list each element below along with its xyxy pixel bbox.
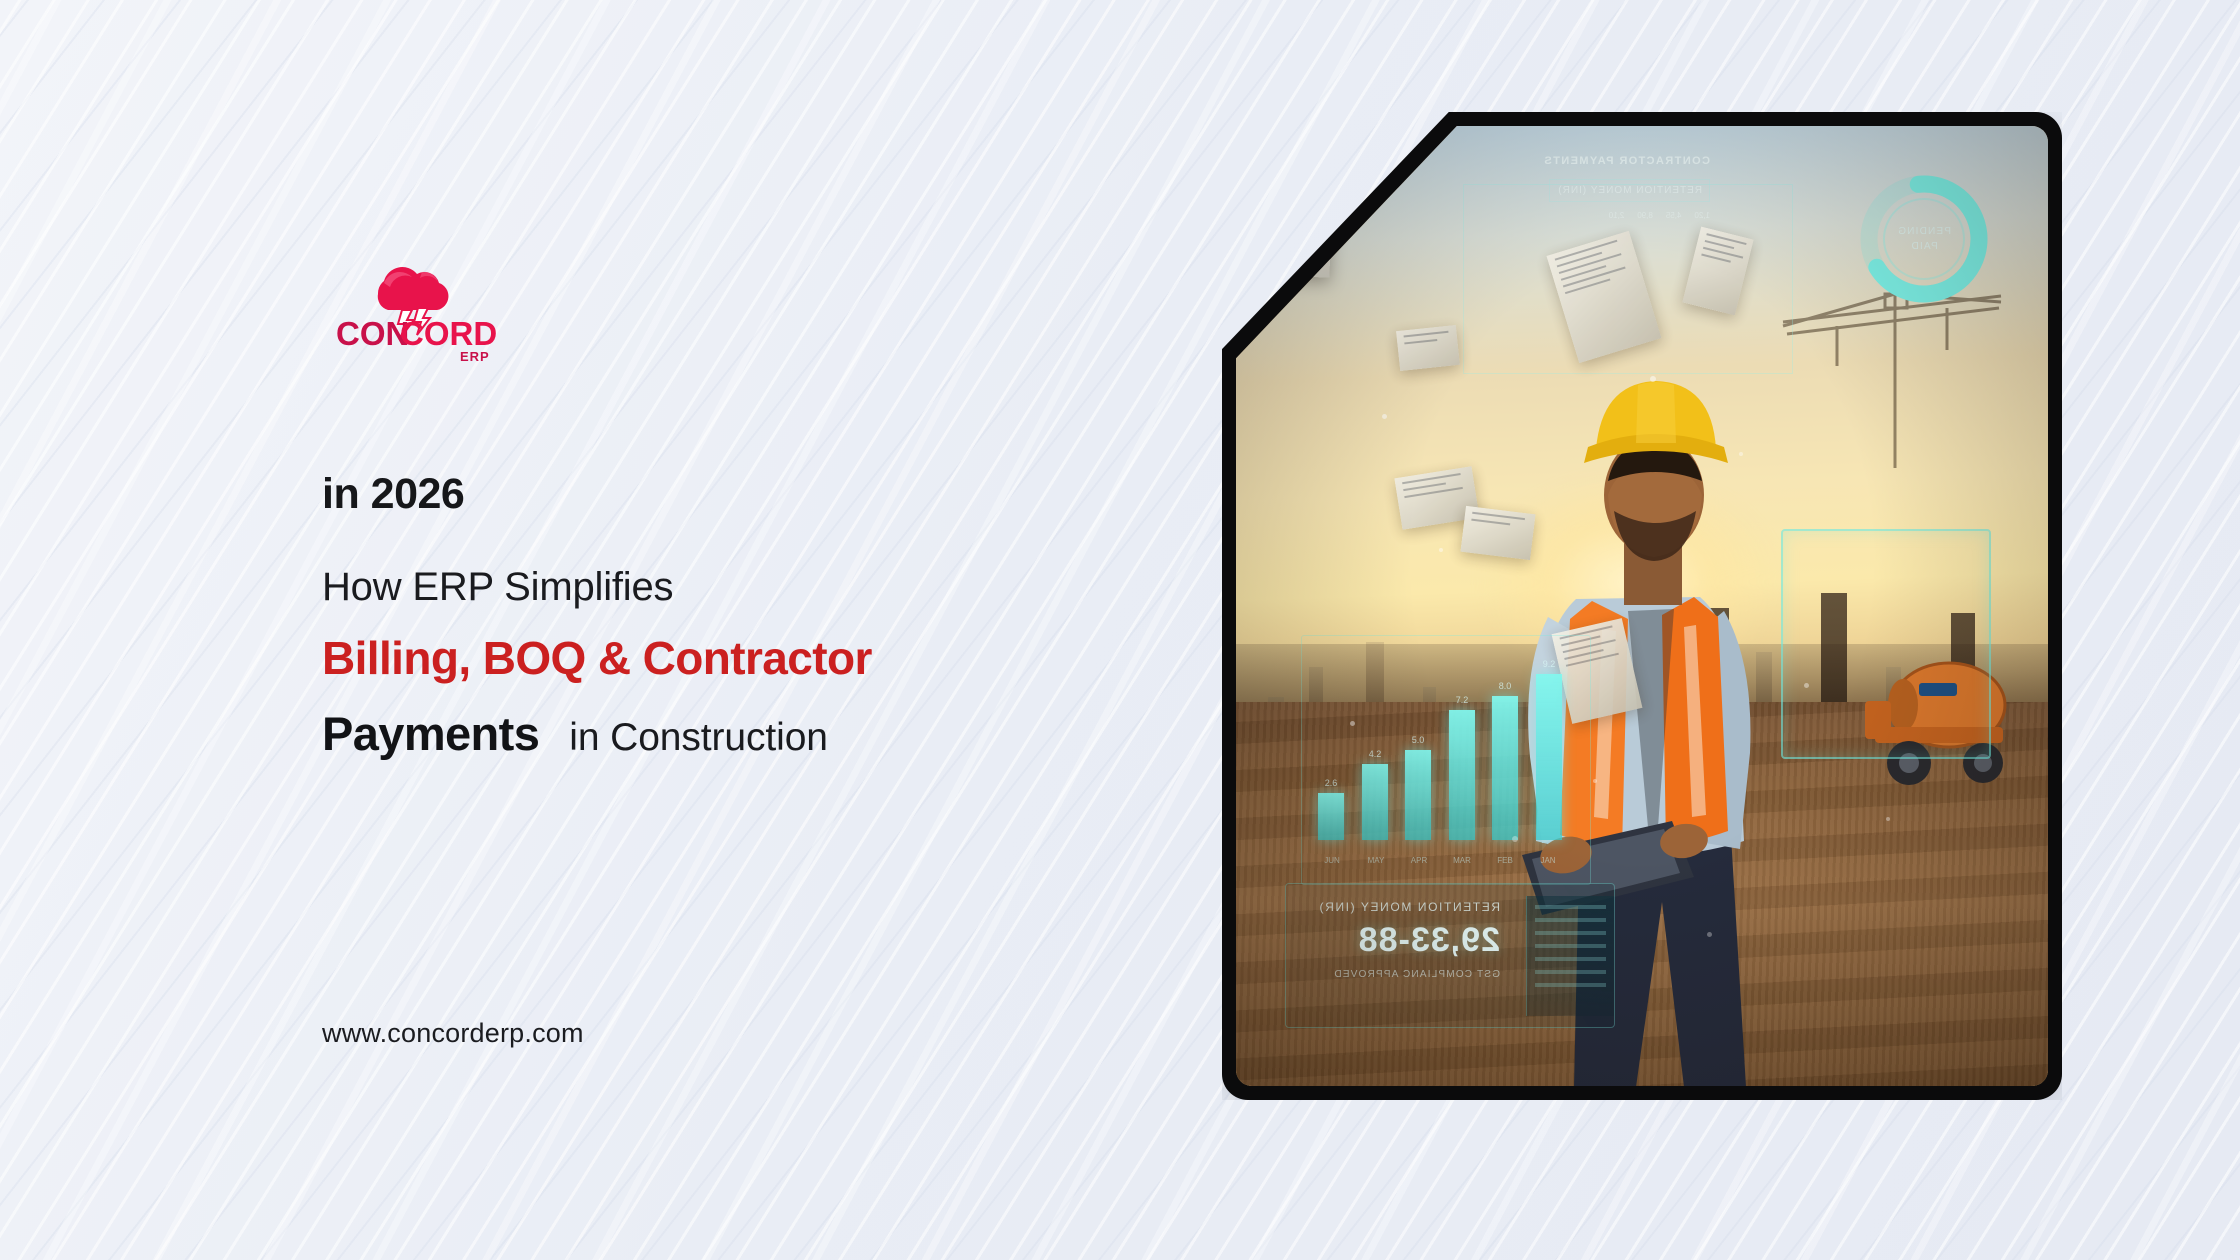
website-url[interactable]: www.concorderp.com: [322, 1018, 584, 1049]
headline-block: in 2026 How ERP Simplifies Billing, BOQ …: [322, 472, 1152, 760]
logo-word-cord: CORD: [400, 315, 497, 352]
concord-erp-logo[interactable]: CON CORD ERP: [322, 250, 512, 365]
photo-vignette: [1236, 126, 2048, 1086]
logo-word-con: CON: [336, 315, 409, 352]
headline-bold-word: Payments: [322, 708, 539, 760]
logo-word-erp: ERP: [460, 349, 490, 364]
hero-image-panel[interactable]: CONTRACTOR PAYMENTS RETENTION MONEY (INR…: [1222, 112, 2062, 1100]
headline-year: in 2026: [322, 472, 1152, 517]
headline-subline: How ERP Simplifies: [322, 565, 1152, 609]
headline-tail: in Construction: [569, 717, 828, 760]
headline-highlight: Billing, BOQ & Contractor: [322, 633, 1152, 684]
headline-last-line: Payments in Construction: [322, 708, 1152, 760]
construction-scene-photo: CONTRACTOR PAYMENTS RETENTION MONEY (INR…: [1236, 126, 2048, 1086]
left-content-column: CON CORD ERP in 2026 How ERP Simplifies …: [0, 0, 1180, 1260]
